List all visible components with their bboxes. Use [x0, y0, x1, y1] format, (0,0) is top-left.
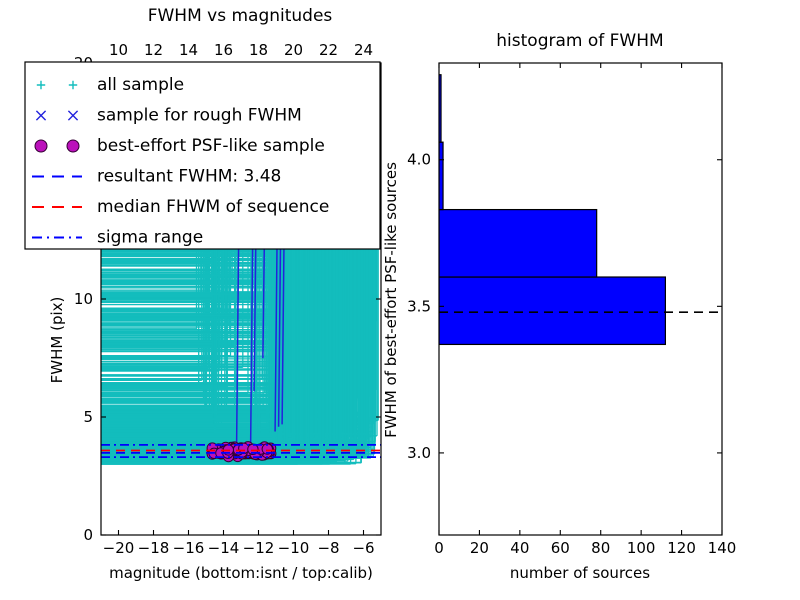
- left-xtick-top: 16: [214, 41, 233, 59]
- left-xtick-bottom: −20: [103, 539, 135, 557]
- right-ytick: 3.0: [407, 444, 431, 462]
- right-xtick: 80: [591, 539, 610, 557]
- right-xtick: 100: [627, 539, 656, 557]
- left-xtick-bottom: −14: [208, 539, 240, 557]
- right-ytick: 4.0: [407, 151, 431, 169]
- left-xtick-top: 20: [284, 41, 303, 59]
- left-xtick-bottom: −6: [352, 539, 374, 557]
- legend-label: median FHWM of sequence: [97, 197, 329, 217]
- right-xtick: 120: [667, 539, 696, 557]
- left-xtick-top: 22: [319, 41, 338, 59]
- figure-canvas: FWHM vs magnitudes −20−18−16−14−12−10−8−…: [0, 0, 800, 600]
- legend-label: sample for rough FWHM: [97, 106, 302, 126]
- left-xtick-bottom: −16: [173, 539, 205, 557]
- left-panel-title: FWHM vs magnitudes: [148, 6, 333, 26]
- histogram-bar: [439, 142, 443, 209]
- left-xtick-bottom: −8: [317, 539, 339, 557]
- right-xtick: 140: [708, 539, 737, 557]
- matplotlib-figure: FWHM vs magnitudes −20−18−16−14−12−10−8−…: [0, 0, 800, 600]
- left-ytick: 10: [74, 290, 93, 308]
- right-ytick: 3.5: [407, 297, 431, 315]
- left-xtick-top: 10: [109, 41, 128, 59]
- left-ytick: 0: [83, 526, 93, 544]
- right-xtick: 0: [434, 539, 444, 557]
- left-xtick-top: 12: [144, 41, 163, 59]
- legend-label: sigma range: [97, 228, 203, 248]
- left-xtick-bottom: −18: [138, 539, 170, 557]
- right-panel-xlabel: number of sources: [510, 564, 650, 582]
- legend-label: best-effort PSF-like sample: [97, 136, 325, 156]
- left-panel-xlabel: magnitude (bottom:isnt / top:calib): [109, 564, 373, 582]
- legend: all samplesample for rough FWHMbest-effo…: [25, 62, 380, 249]
- left-xtick-bottom: −12: [243, 539, 275, 557]
- legend-label: resultant FWHM: 3.48: [97, 167, 281, 187]
- left-xtick-bottom: −10: [278, 539, 310, 557]
- right-panel-title: histogram of FWHM: [496, 31, 663, 51]
- right-xtick: 60: [551, 539, 570, 557]
- histogram-bar: [439, 210, 597, 277]
- legend-label: all sample: [97, 75, 184, 95]
- left-xtick-top: 14: [179, 41, 198, 59]
- left-ytick: 5: [83, 408, 93, 426]
- right-xtick: 20: [470, 539, 489, 557]
- histogram-bar: [439, 277, 665, 344]
- right-panel-ylabel: FWHM of best-effort PSF-like sources: [382, 162, 400, 438]
- left-panel-ylabel: FWHM (pix): [48, 297, 66, 384]
- right-xtick: 40: [510, 539, 529, 557]
- left-xtick-top: 18: [249, 41, 268, 59]
- left-xtick-top: 24: [354, 41, 373, 59]
